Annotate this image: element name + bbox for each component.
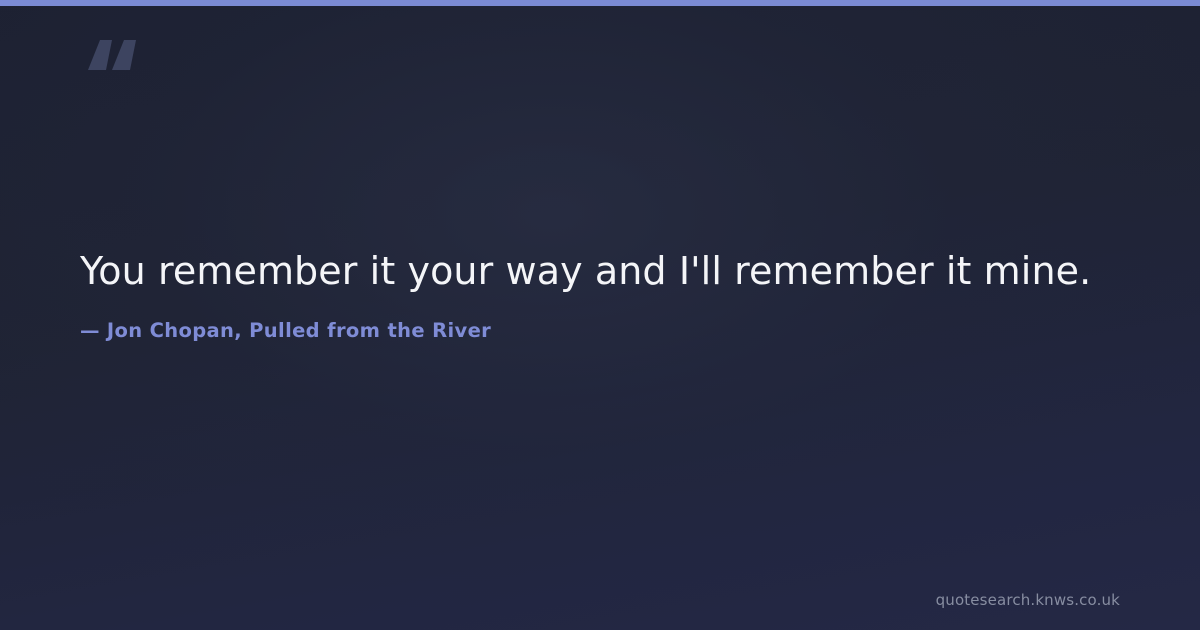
quote-attribution: —Jon Chopan, Pulled from the River: [80, 318, 1120, 343]
top-accent-bar: [0, 0, 1200, 6]
quote-card: You remember it your way and I'll rememb…: [0, 0, 1200, 630]
quote-text: You remember it your way and I'll rememb…: [80, 248, 1120, 296]
double-quote-open-icon: [78, 14, 148, 94]
attribution-dash: —: [80, 318, 100, 343]
quote-content: You remember it your way and I'll rememb…: [80, 248, 1120, 343]
site-url: quotesearch.knws.co.uk: [936, 593, 1120, 608]
attribution-label: Jon Chopan, Pulled from the River: [107, 319, 491, 342]
